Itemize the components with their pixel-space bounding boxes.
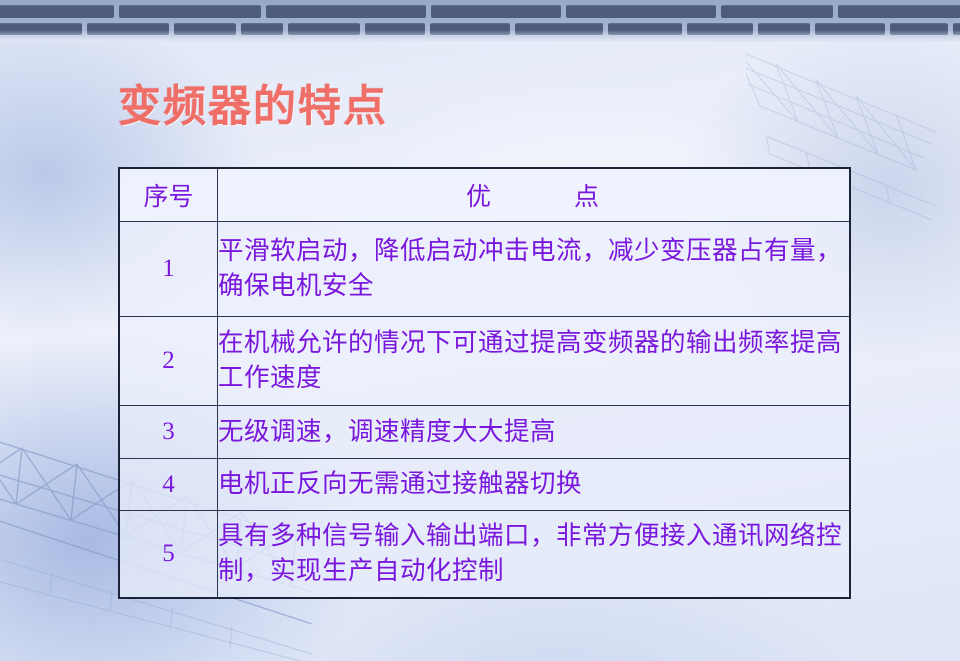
- table-row: 1 平滑软启动，降低启动冲击电流，减少变压器占有量，确保电机安全: [119, 222, 850, 317]
- row-number: 1: [119, 222, 218, 317]
- row-merit-text: 无级调速，调速精度大大提高: [218, 406, 851, 459]
- column-header-no: 序号: [119, 168, 218, 222]
- column-header-merit: 优 点: [218, 168, 851, 222]
- brick-row-top: [0, 5, 960, 18]
- table-row: 5 具有多种信号输入输出端口，非常方便接入通讯网络控制，实现生产自动化控制: [119, 511, 850, 599]
- table-row: 2 在机械允许的情况下可通过提高变频器的输出频率提高工作速度: [119, 317, 850, 406]
- table-body: 1 平滑软启动，降低启动冲击电流，减少变压器占有量，确保电机安全 2 在机械允许…: [119, 222, 850, 599]
- row-merit-text: 平滑软启动，降低启动冲击电流，减少变压器占有量，确保电机安全: [218, 222, 851, 317]
- slide-canvas: 变频器的特点 序号 优 点 1 平滑软启动，降低启动冲击电流，减少变压器占有量，…: [0, 0, 960, 661]
- row-merit-text: 电机正反向无需通过接触器切换: [218, 459, 851, 511]
- table-row: 3 无级调速，调速精度大大提高: [119, 406, 850, 459]
- row-number: 2: [119, 317, 218, 406]
- row-number: 5: [119, 511, 218, 599]
- row-number: 3: [119, 406, 218, 459]
- table-header: 序号 优 点: [119, 168, 850, 222]
- row-merit-text: 在机械允许的情况下可通过提高变频器的输出频率提高工作速度: [218, 317, 851, 406]
- slide-title: 变频器的特点: [118, 84, 388, 131]
- table-header-row: 序号 优 点: [119, 168, 850, 222]
- brick-wall-band: [0, 0, 960, 42]
- brick-band-fade: [0, 30, 960, 42]
- row-number: 4: [119, 459, 218, 511]
- feature-table: 序号 优 点 1 平滑软启动，降低启动冲击电流，减少变压器占有量，确保电机安全 …: [118, 167, 851, 599]
- row-merit-text: 具有多种信号输入输出端口，非常方便接入通讯网络控制，实现生产自动化控制: [218, 511, 851, 599]
- table-row: 4 电机正反向无需通过接触器切换: [119, 459, 850, 511]
